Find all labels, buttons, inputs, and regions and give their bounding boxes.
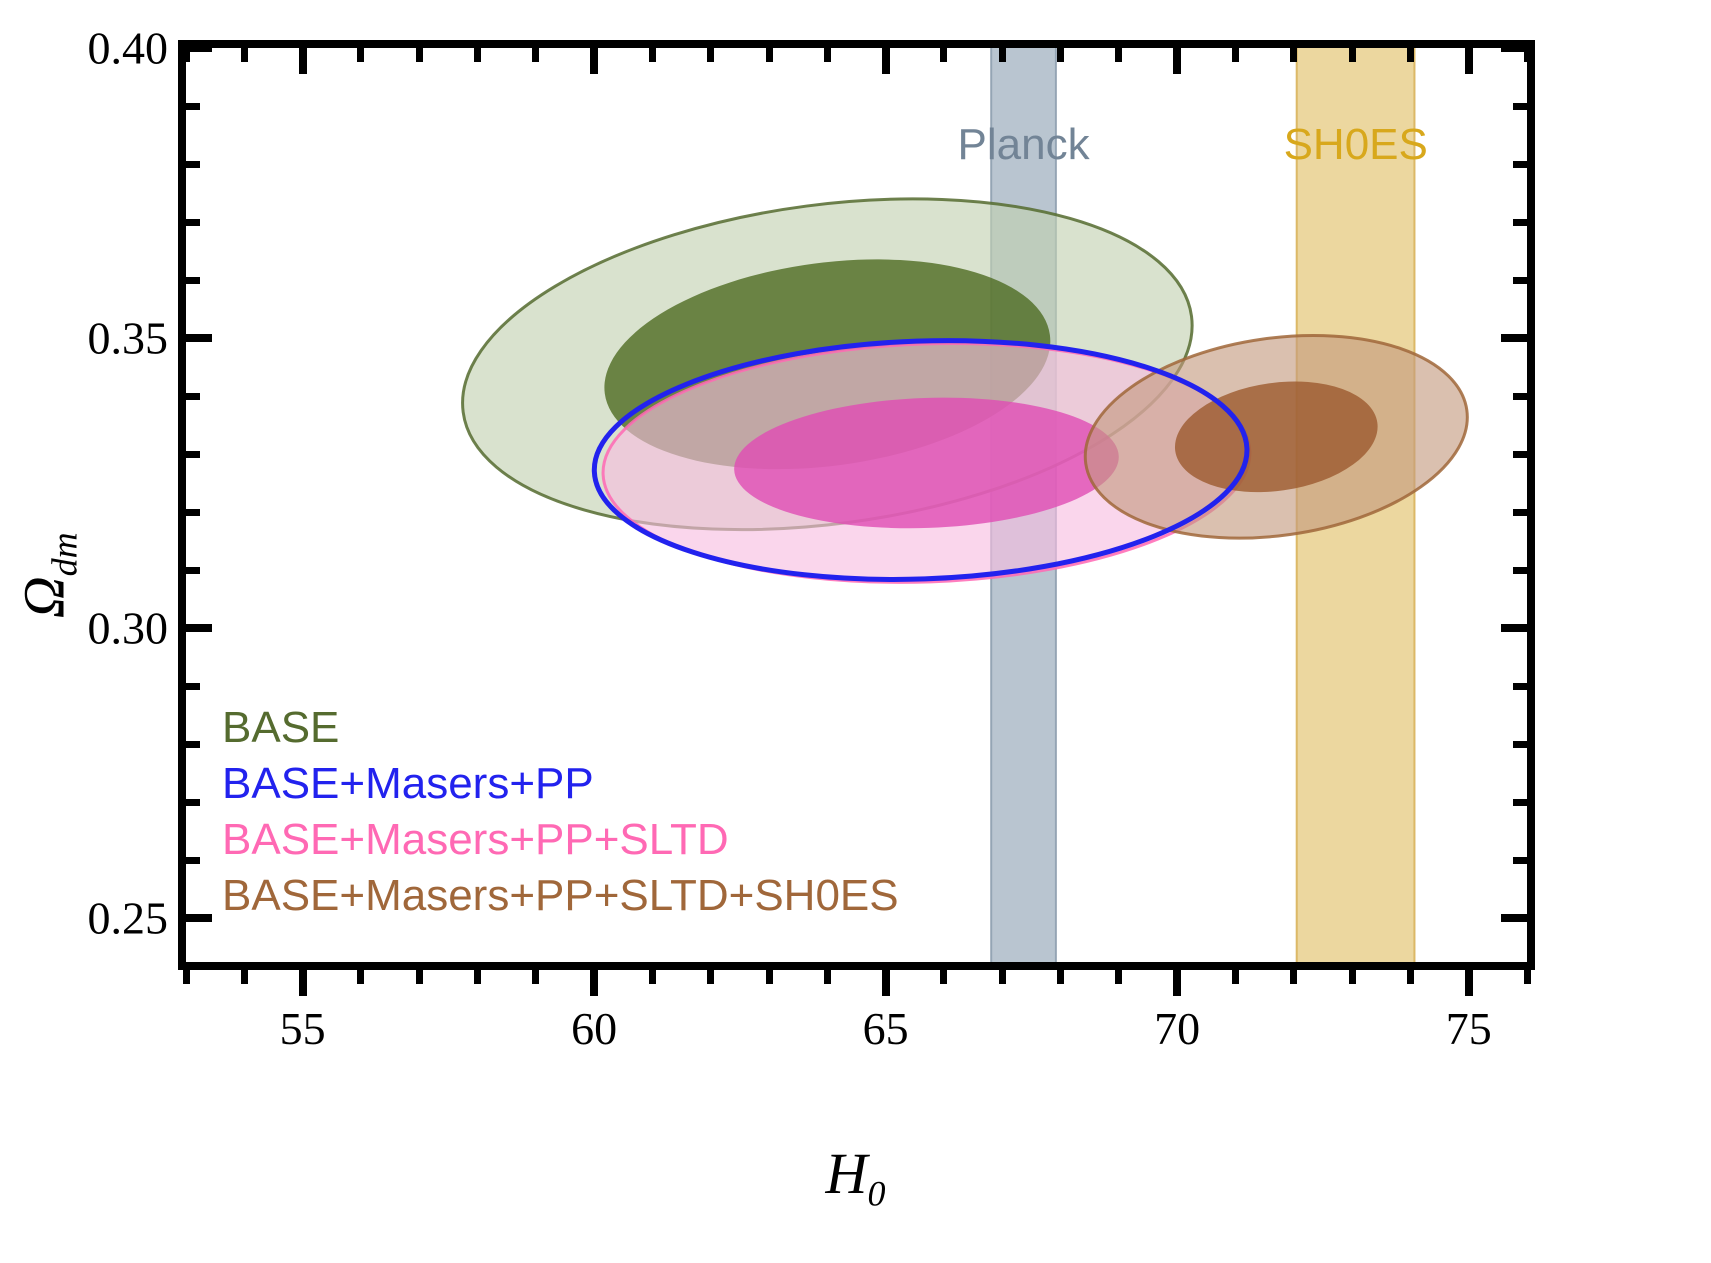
- y-tick-minor-right: [1513, 451, 1535, 458]
- y-tick-minor: [178, 219, 200, 226]
- x-tick-minor-top: [241, 40, 248, 62]
- y-tick-label: 0.30: [88, 602, 169, 655]
- y-tick-major: [178, 914, 212, 922]
- y-tick-minor: [178, 799, 200, 806]
- x-tick-minor-top: [1290, 40, 1297, 62]
- x-tick-minor: [999, 962, 1006, 984]
- x-tick-minor-top: [940, 40, 947, 62]
- x-tick-minor-top: [766, 40, 773, 62]
- y-tick-minor-right: [1513, 741, 1535, 748]
- x-tick-major: [299, 962, 307, 996]
- x-tick-minor: [766, 962, 773, 984]
- y-tick-minor-right: [1513, 857, 1535, 864]
- band-label-planck: Planck: [958, 120, 1090, 170]
- x-tick-label: 70: [1107, 1002, 1247, 1055]
- x-tick-minor-top: [1524, 40, 1531, 62]
- x-tick-major-top: [882, 40, 890, 74]
- y-tick-minor-right: [1513, 103, 1535, 110]
- y-tick-minor-right: [1513, 799, 1535, 806]
- x-tick-minor: [1407, 962, 1414, 984]
- y-tick-minor-right: [1513, 219, 1535, 226]
- x-tick-minor-top: [1232, 40, 1239, 62]
- x-tick-major: [1173, 962, 1181, 996]
- x-tick-major-top: [1465, 40, 1473, 74]
- y-axis-title: Ωdm: [11, 465, 86, 685]
- legend-item-1: BASE+Masers+PP: [222, 756, 899, 812]
- y-tick-minor: [178, 741, 200, 748]
- x-axis-symbol: H: [826, 1141, 868, 1206]
- x-tick-minor: [416, 962, 423, 984]
- y-tick-major-right: [1501, 624, 1535, 632]
- legend-item-0: BASE: [222, 700, 899, 756]
- x-tick-minor: [1232, 962, 1239, 984]
- x-tick-minor: [357, 962, 364, 984]
- x-tick-minor-top: [474, 40, 481, 62]
- y-tick-minor: [178, 393, 200, 400]
- x-tick-minor-top: [1407, 40, 1414, 62]
- y-tick-label: 0.40: [88, 22, 169, 75]
- y-tick-minor-right: [1513, 567, 1535, 574]
- x-tick-minor: [183, 962, 190, 984]
- y-axis-subscript: dm: [44, 532, 84, 576]
- legend-item-3: BASE+Masers+PP+SLTD+SH0ES: [222, 868, 899, 924]
- x-tick-label: 60: [524, 1002, 664, 1055]
- y-tick-major: [178, 334, 212, 342]
- legend: BASEBASE+Masers+PPBASE+Masers+PP+SLTDBAS…: [222, 700, 899, 924]
- y-tick-major-right: [1501, 334, 1535, 342]
- x-tick-minor-top: [357, 40, 364, 62]
- x-tick-minor: [940, 962, 947, 984]
- y-tick-minor: [178, 161, 200, 168]
- y-tick-minor: [178, 451, 200, 458]
- x-tick-minor: [1057, 962, 1064, 984]
- x-tick-major-top: [1173, 40, 1181, 74]
- x-tick-minor-top: [1349, 40, 1356, 62]
- x-axis-title: H0: [0, 1140, 1711, 1215]
- x-tick-major-top: [299, 40, 307, 74]
- x-tick-minor: [474, 962, 481, 984]
- x-tick-minor-top: [416, 40, 423, 62]
- y-axis-symbol: Ω: [12, 576, 77, 618]
- x-tick-minor-top: [183, 40, 190, 62]
- band-label-sh0es: SH0ES: [1284, 120, 1428, 170]
- y-tick-minor: [178, 103, 200, 110]
- x-tick-minor-top: [1057, 40, 1064, 62]
- y-tick-minor: [178, 277, 200, 284]
- x-tick-minor: [532, 962, 539, 984]
- x-tick-minor: [1349, 962, 1356, 984]
- legend-item-2: BASE+Masers+PP+SLTD: [222, 812, 899, 868]
- x-tick-minor: [649, 962, 656, 984]
- y-tick-minor-right: [1513, 509, 1535, 516]
- y-tick-minor: [178, 683, 200, 690]
- x-axis-subscript: 0: [867, 1174, 885, 1214]
- contour-plot-figure: Ωdm H0 BASEBASE+Masers+PPBASE+Masers+PP+…: [0, 0, 1711, 1263]
- x-tick-major: [1465, 962, 1473, 996]
- x-tick-minor-top: [707, 40, 714, 62]
- x-tick-minor: [824, 962, 831, 984]
- x-tick-label: 65: [816, 1002, 956, 1055]
- x-tick-minor: [1115, 962, 1122, 984]
- y-tick-minor-right: [1513, 393, 1535, 400]
- y-tick-major: [178, 624, 212, 632]
- y-tick-minor-right: [1513, 277, 1535, 284]
- x-tick-minor-top: [649, 40, 656, 62]
- x-tick-label: 75: [1399, 1002, 1539, 1055]
- x-tick-major: [882, 962, 890, 996]
- x-tick-minor: [241, 962, 248, 984]
- x-tick-minor: [1290, 962, 1297, 984]
- y-tick-label: 0.35: [88, 312, 169, 365]
- y-tick-minor: [178, 857, 200, 864]
- x-tick-minor-top: [999, 40, 1006, 62]
- x-tick-minor: [707, 962, 714, 984]
- x-tick-minor: [1524, 962, 1531, 984]
- y-tick-minor: [178, 567, 200, 574]
- y-tick-major-right: [1501, 914, 1535, 922]
- x-tick-major-top: [590, 40, 598, 74]
- y-tick-minor-right: [1513, 161, 1535, 168]
- x-tick-minor-top: [1115, 40, 1122, 62]
- y-tick-minor: [178, 509, 200, 516]
- x-tick-minor-top: [532, 40, 539, 62]
- y-tick-minor-right: [1513, 683, 1535, 690]
- y-tick-label: 0.25: [88, 892, 169, 945]
- x-tick-label: 55: [233, 1002, 373, 1055]
- x-tick-minor-top: [824, 40, 831, 62]
- x-tick-major: [590, 962, 598, 996]
